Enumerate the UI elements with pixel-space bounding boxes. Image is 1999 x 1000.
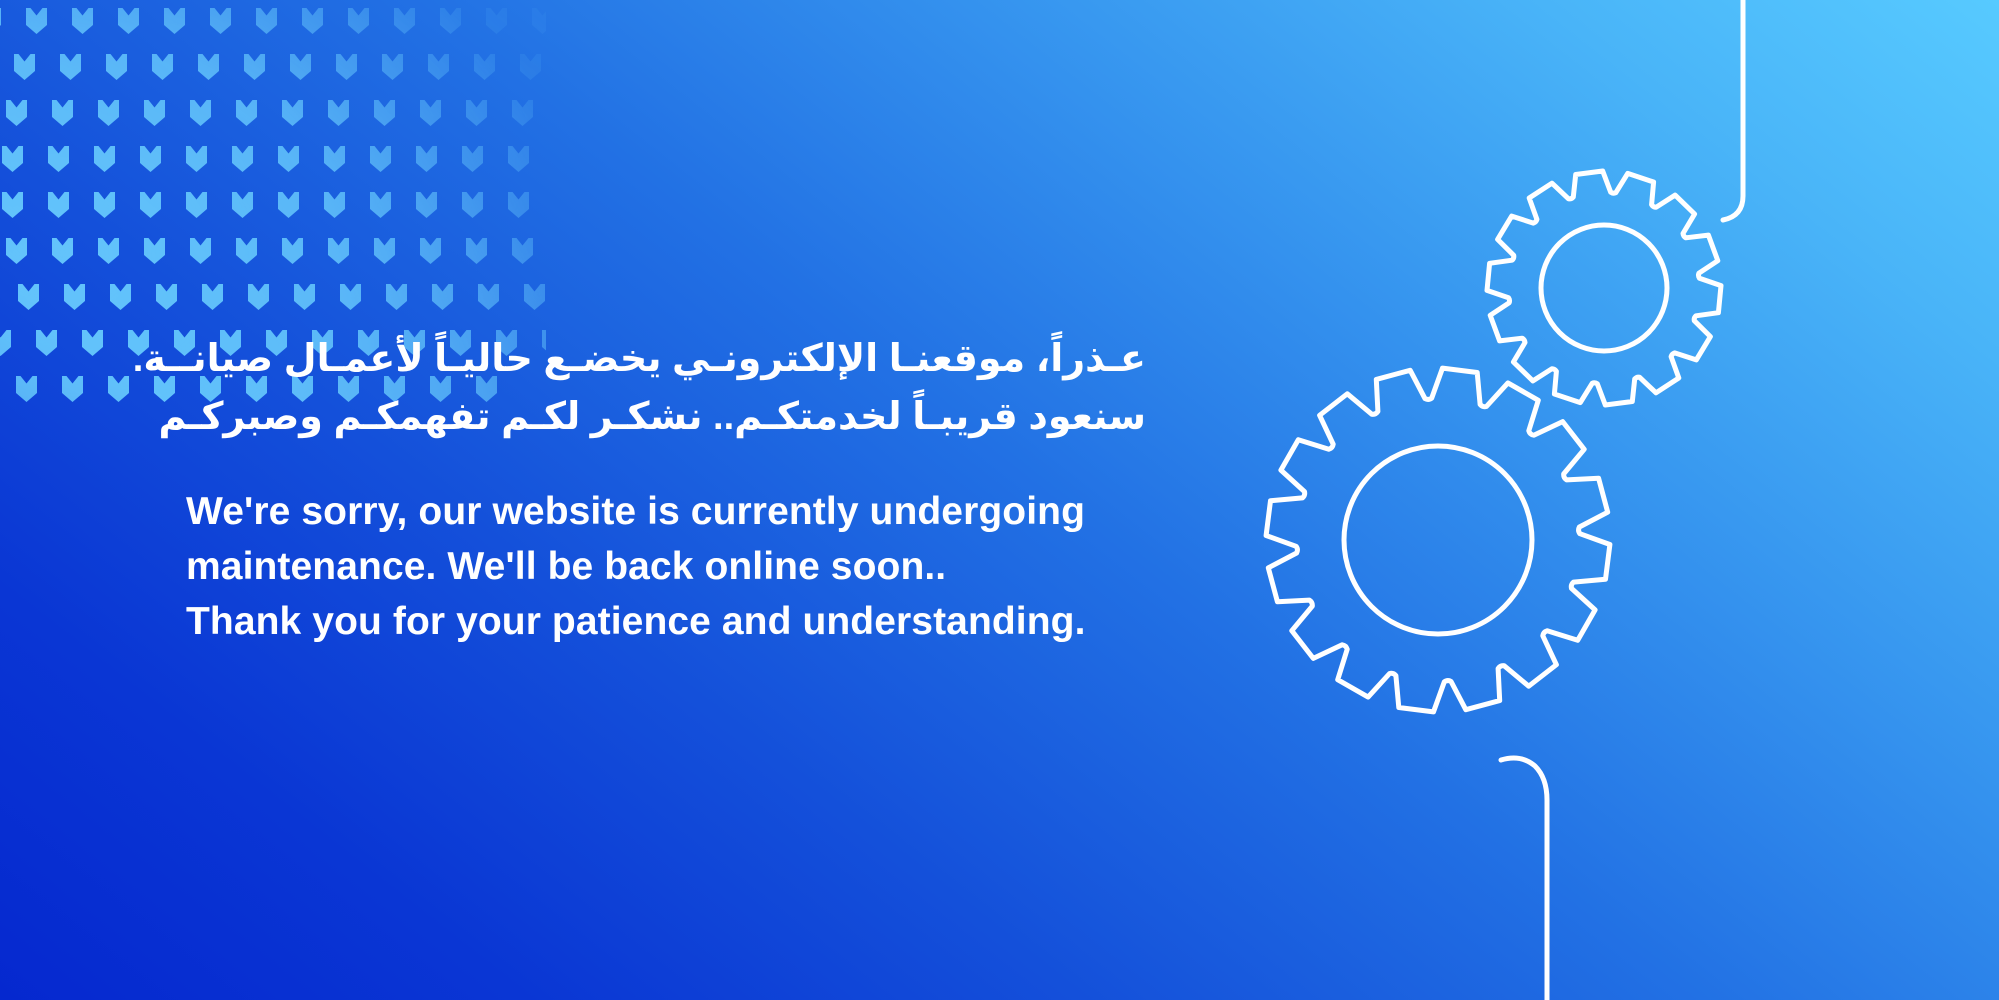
small-gear-body	[1487, 171, 1721, 405]
english-line-1: We're sorry, our website is currently un…	[186, 484, 1146, 539]
arabic-line-2: سنعود قريبـاً لخدمتكـم.. نشكـر لكـم تفهم…	[186, 388, 1146, 446]
maintenance-message: عـذراً، موقعنـا الإلكترونـي يخضـع حاليـا…	[186, 330, 1146, 649]
english-message: We're sorry, our website is currently un…	[186, 484, 1146, 649]
arabic-message: عـذراً، موقعنـا الإلكترونـي يخضـع حاليـا…	[186, 330, 1146, 446]
bottom-connector-line	[1501, 758, 1547, 1000]
large-gear-inner-circle	[1344, 446, 1532, 634]
large-gear-body	[1266, 368, 1610, 712]
arabic-line-1: عـذراً، موقعنـا الإلكترونـي يخضـع حاليـا…	[186, 330, 1146, 388]
maintenance-page: عـذراً، موقعنـا الإلكترونـي يخضـع حاليـا…	[0, 0, 1999, 1000]
english-line-3: Thank you for your patience and understa…	[186, 594, 1146, 649]
english-line-2: maintenance. We'll be back online soon..	[186, 539, 1146, 594]
top-connector-line	[1723, 0, 1743, 220]
small-gear-inner-circle	[1541, 225, 1667, 351]
